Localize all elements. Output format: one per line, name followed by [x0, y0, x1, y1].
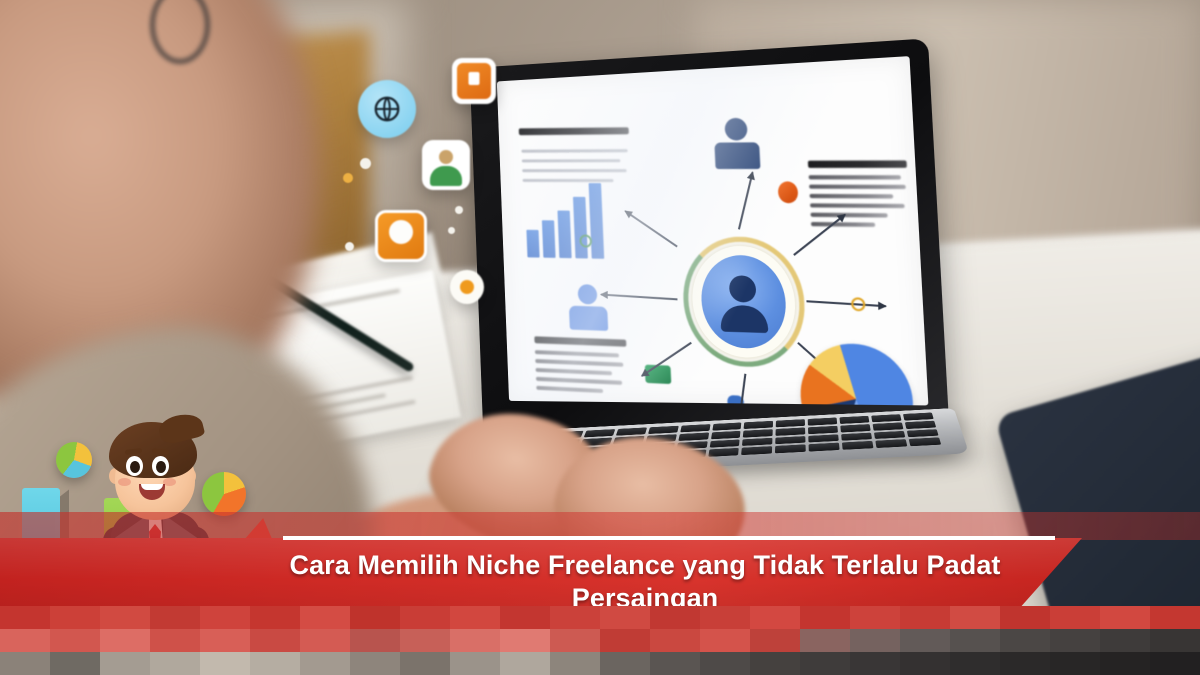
sparkle-dot-4	[448, 227, 455, 234]
coin-icon[interactable]	[450, 270, 484, 304]
infographic-pie-chart	[798, 342, 916, 406]
mosaic-strip	[0, 606, 1200, 675]
mascot-cheek-left	[118, 478, 131, 486]
hub-person-icon	[719, 275, 769, 333]
spoke-left	[601, 294, 678, 300]
laptop-lid	[470, 38, 950, 437]
node-yellow-circle	[851, 297, 866, 311]
sparkle-dot-2	[360, 158, 371, 169]
infographic-hub	[681, 236, 808, 370]
infographic-heading-right	[808, 160, 915, 232]
lock-icon[interactable]	[452, 58, 496, 104]
spoke-upper-left	[625, 211, 678, 248]
infographic-badge-icon	[778, 181, 799, 203]
sparkle-dot-1	[345, 242, 354, 251]
chat-icon[interactable]	[375, 210, 427, 262]
infographic-worker-icon	[713, 118, 760, 169]
infographic-heading-top-left	[519, 127, 633, 142]
laptop-screen[interactable]	[497, 56, 929, 405]
mascot-eye-right	[152, 456, 169, 476]
infographic-bar-chart	[525, 183, 605, 259]
infographic	[497, 61, 929, 406]
user-avatar-icon[interactable]	[422, 140, 470, 190]
spoke-right	[806, 300, 885, 307]
globe-glyph	[372, 94, 402, 124]
globe-icon[interactable]	[358, 80, 416, 138]
infographic-heading-bottom-left	[534, 336, 632, 399]
screenshot-stage: Cara Memilih Niche Freelance yang Tidak …	[0, 0, 1200, 675]
spoke-top	[738, 172, 753, 230]
node-green-circle	[579, 234, 592, 247]
mascot-eye-left	[126, 456, 143, 476]
mascot-pie-small	[56, 442, 92, 478]
infographic-gear-icon	[714, 394, 759, 405]
banner-underline	[283, 536, 1055, 540]
sparkle-dot-5	[343, 173, 353, 183]
sparkle-dot-3	[455, 206, 463, 214]
